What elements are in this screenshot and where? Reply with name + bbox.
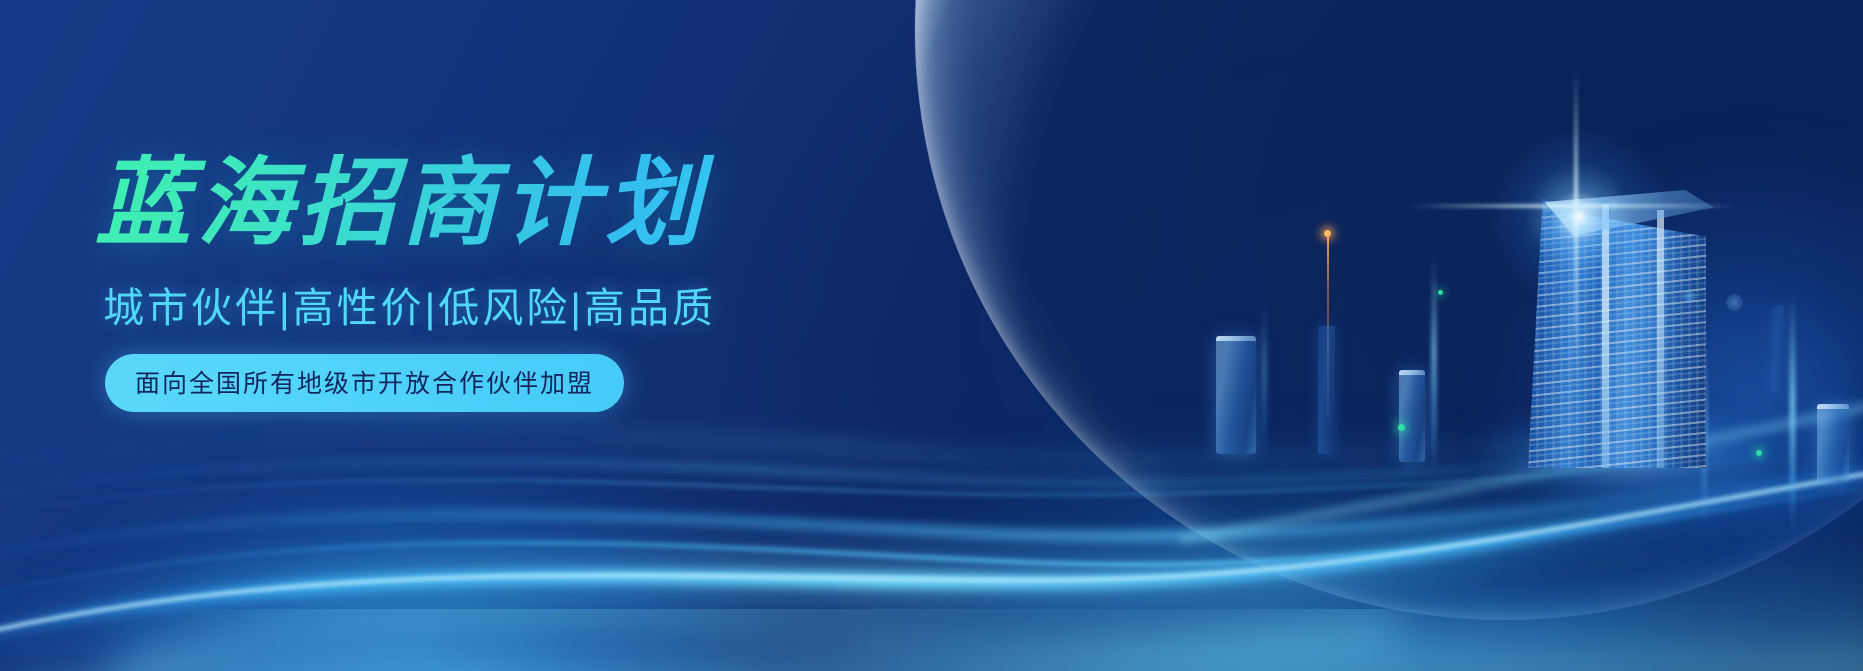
promo-banner: 蓝海招商计划 城市伙伴|高性价|低风险|高品质 面向全国所有地级市开放合作伙伴加…	[0, 0, 1863, 671]
glass-pillar-4	[1817, 404, 1849, 482]
flare-streak-vertical	[1574, 72, 1578, 372]
high-rise-tower	[1528, 168, 1758, 468]
tower-spine-2	[1657, 210, 1664, 468]
tower-spine-1	[1602, 204, 1609, 468]
status-badge[interactable]: 面向全国所有地级市开放合作伙伴加盟	[105, 354, 624, 412]
wave-bottom-highlight	[120, 615, 1400, 671]
page-title: 蓝海招商计划	[95, 150, 716, 258]
flare-streak-horizontal	[1408, 204, 1738, 208]
bottom-left-glow	[40, 461, 800, 671]
headline-subtitle: 城市伙伴|高性价|低风险|高品质	[103, 274, 716, 334]
glass-pillar-1	[1318, 326, 1335, 454]
glass-pillar-3	[1399, 370, 1425, 462]
glass-pillar-2	[1216, 336, 1256, 454]
tower-window-grid	[1528, 196, 1706, 468]
headline-block: 蓝海招商计划 城市伙伴|高性价|低风险|高品质 面向全国所有地级市开放合作伙伴加…	[95, 150, 716, 412]
antenna-tip-light	[1324, 230, 1331, 237]
glass-pillar-5	[1771, 306, 1785, 392]
